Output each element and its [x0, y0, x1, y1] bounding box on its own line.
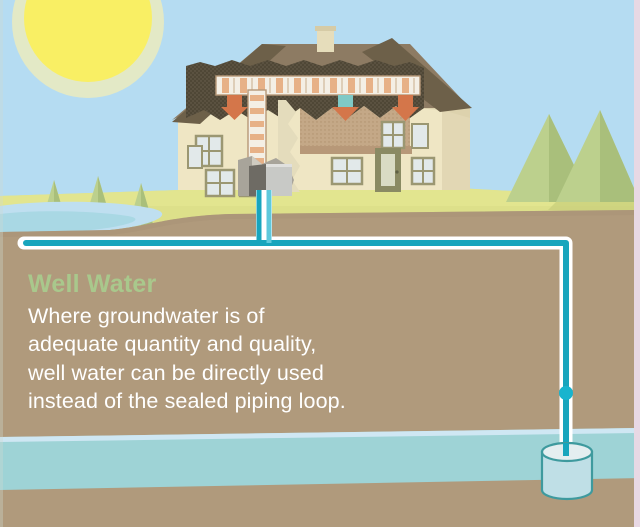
window	[412, 124, 428, 148]
pump-indicator-dot	[559, 386, 573, 400]
caption-line: adequate quantity and quality,	[28, 330, 448, 358]
caption-line: Where groundwater is of	[28, 302, 448, 330]
caption-title: Well Water	[28, 270, 448, 299]
window	[382, 122, 404, 148]
scene-graphic	[0, 0, 640, 527]
window	[188, 146, 202, 168]
caption-body: Where groundwater is of adequate quantit…	[28, 302, 448, 416]
window	[206, 170, 234, 196]
window	[412, 158, 434, 184]
house-wall-extension	[442, 110, 470, 190]
well-water-caption: Well Water Where groundwater is of adequ…	[28, 270, 448, 415]
right-edge-strip	[634, 0, 640, 527]
well-cylinder	[542, 443, 592, 499]
left-edge-strip	[0, 0, 3, 527]
door	[375, 148, 401, 192]
window	[332, 158, 362, 184]
caption-line: instead of the sealed piping loop.	[28, 387, 448, 415]
illustration-canvas: Well Water Where groundwater is of adequ…	[0, 0, 640, 527]
caption-line: well water can be directly used	[28, 359, 448, 387]
chimney-cap	[315, 26, 336, 31]
chimney	[317, 28, 334, 52]
